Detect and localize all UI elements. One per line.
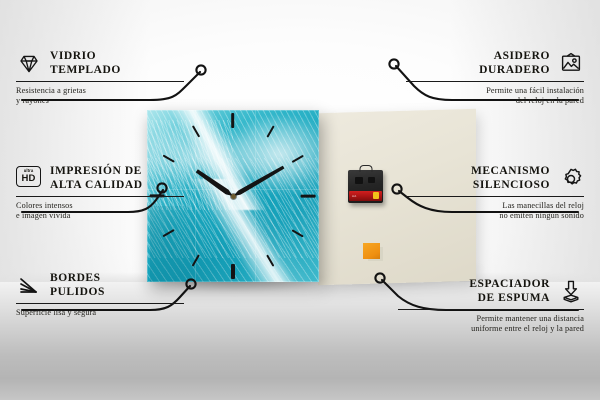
- feature-head: ultra HD IMPRESIÓN DE ALTA CALIDAD: [16, 165, 184, 196]
- clock-tick-1: [192, 254, 200, 266]
- feature-impresion-alta-calidad: ultra HD IMPRESIÓN DE ALTA CALIDAD Color…: [16, 165, 184, 221]
- diamond-icon: [16, 51, 42, 77]
- feature-head: ASIDERO DURADERO: [406, 50, 584, 81]
- feature-description: Permite una fácil instalación del reloj …: [406, 82, 584, 106]
- feature-title: ASIDERO DURADERO: [479, 50, 550, 77]
- foam-spacer-arrow-icon: [558, 279, 584, 305]
- movement-knob-secondary: [368, 177, 375, 183]
- clock-tick-7: [266, 125, 274, 137]
- clock-tick-2: [162, 229, 174, 237]
- feature-head: MECANISMO SILENCIOSO: [406, 165, 584, 196]
- clock-tick-4: [162, 155, 174, 163]
- feature-head: ESPACIADOR DE ESPUMA: [398, 278, 584, 309]
- clock-movement-box: AA: [348, 170, 383, 203]
- feature-description: Colores intensos e imagen vívida: [16, 197, 184, 221]
- feature-mecanismo-silencioso: MECANISMO SILENCIOSO Las manecillas del …: [406, 165, 584, 221]
- feature-bordes-pulidos: BORDES PULIDOS Superficie lisa y segura: [16, 272, 184, 318]
- battery-label: AA: [352, 194, 356, 198]
- clock-tick-11: [266, 254, 274, 266]
- feature-vidrio-templado: VIDRIO TEMPLADO Resistencia a grietas y …: [16, 50, 184, 106]
- feature-title: VIDRIO TEMPLADO: [50, 50, 121, 77]
- feature-head: VIDRIO TEMPLADO: [16, 50, 184, 81]
- foam-spacer-piece: [363, 243, 380, 259]
- gear-icon: [558, 166, 584, 192]
- hour-hand: [195, 169, 234, 199]
- feature-description: Las manecillas del reloj no emiten ningú…: [406, 197, 584, 221]
- movement-knob: [355, 177, 363, 184]
- clock-tick-5: [192, 125, 200, 137]
- feature-description: Permite mantener una distancia uniforme …: [398, 310, 584, 334]
- clock-tick-6: [231, 113, 234, 128]
- feature-head: BORDES PULIDOS: [16, 272, 184, 303]
- picture-frame-hanger-icon: [558, 51, 584, 77]
- polished-edges-icon: [16, 273, 42, 299]
- feature-title: IMPRESIÓN DE ALTA CALIDAD: [50, 165, 143, 192]
- minute-hand: [232, 165, 285, 198]
- feature-title: BORDES PULIDOS: [50, 272, 105, 299]
- clock-tick-10: [291, 229, 303, 237]
- ultra-hd-icon: ultra HD: [16, 166, 42, 192]
- feature-description: Superficie lisa y segura: [16, 304, 184, 318]
- clock-tick-9: [301, 194, 316, 197]
- movement-hanger-icon: [359, 165, 372, 172]
- clock-tick-12: [231, 264, 234, 279]
- feature-espaciador-de-espuma: ESPACIADOR DE ESPUMA Permite mantener un…: [398, 278, 584, 334]
- feature-title: ESPACIADOR DE ESPUMA: [469, 278, 550, 305]
- feature-asidero-duradero: ASIDERO DURADERO Permite una fácil insta…: [406, 50, 584, 106]
- clock-tick-8: [291, 155, 303, 163]
- ultra-hd-large-text: HD: [21, 174, 35, 184]
- hands-center-pin: [231, 194, 236, 199]
- feature-description: Resistencia a grietas y rayones: [16, 82, 184, 106]
- battery-plus-terminal: [373, 192, 379, 199]
- battery: AA: [349, 191, 382, 201]
- feature-title: MECANISMO SILENCIOSO: [471, 165, 550, 192]
